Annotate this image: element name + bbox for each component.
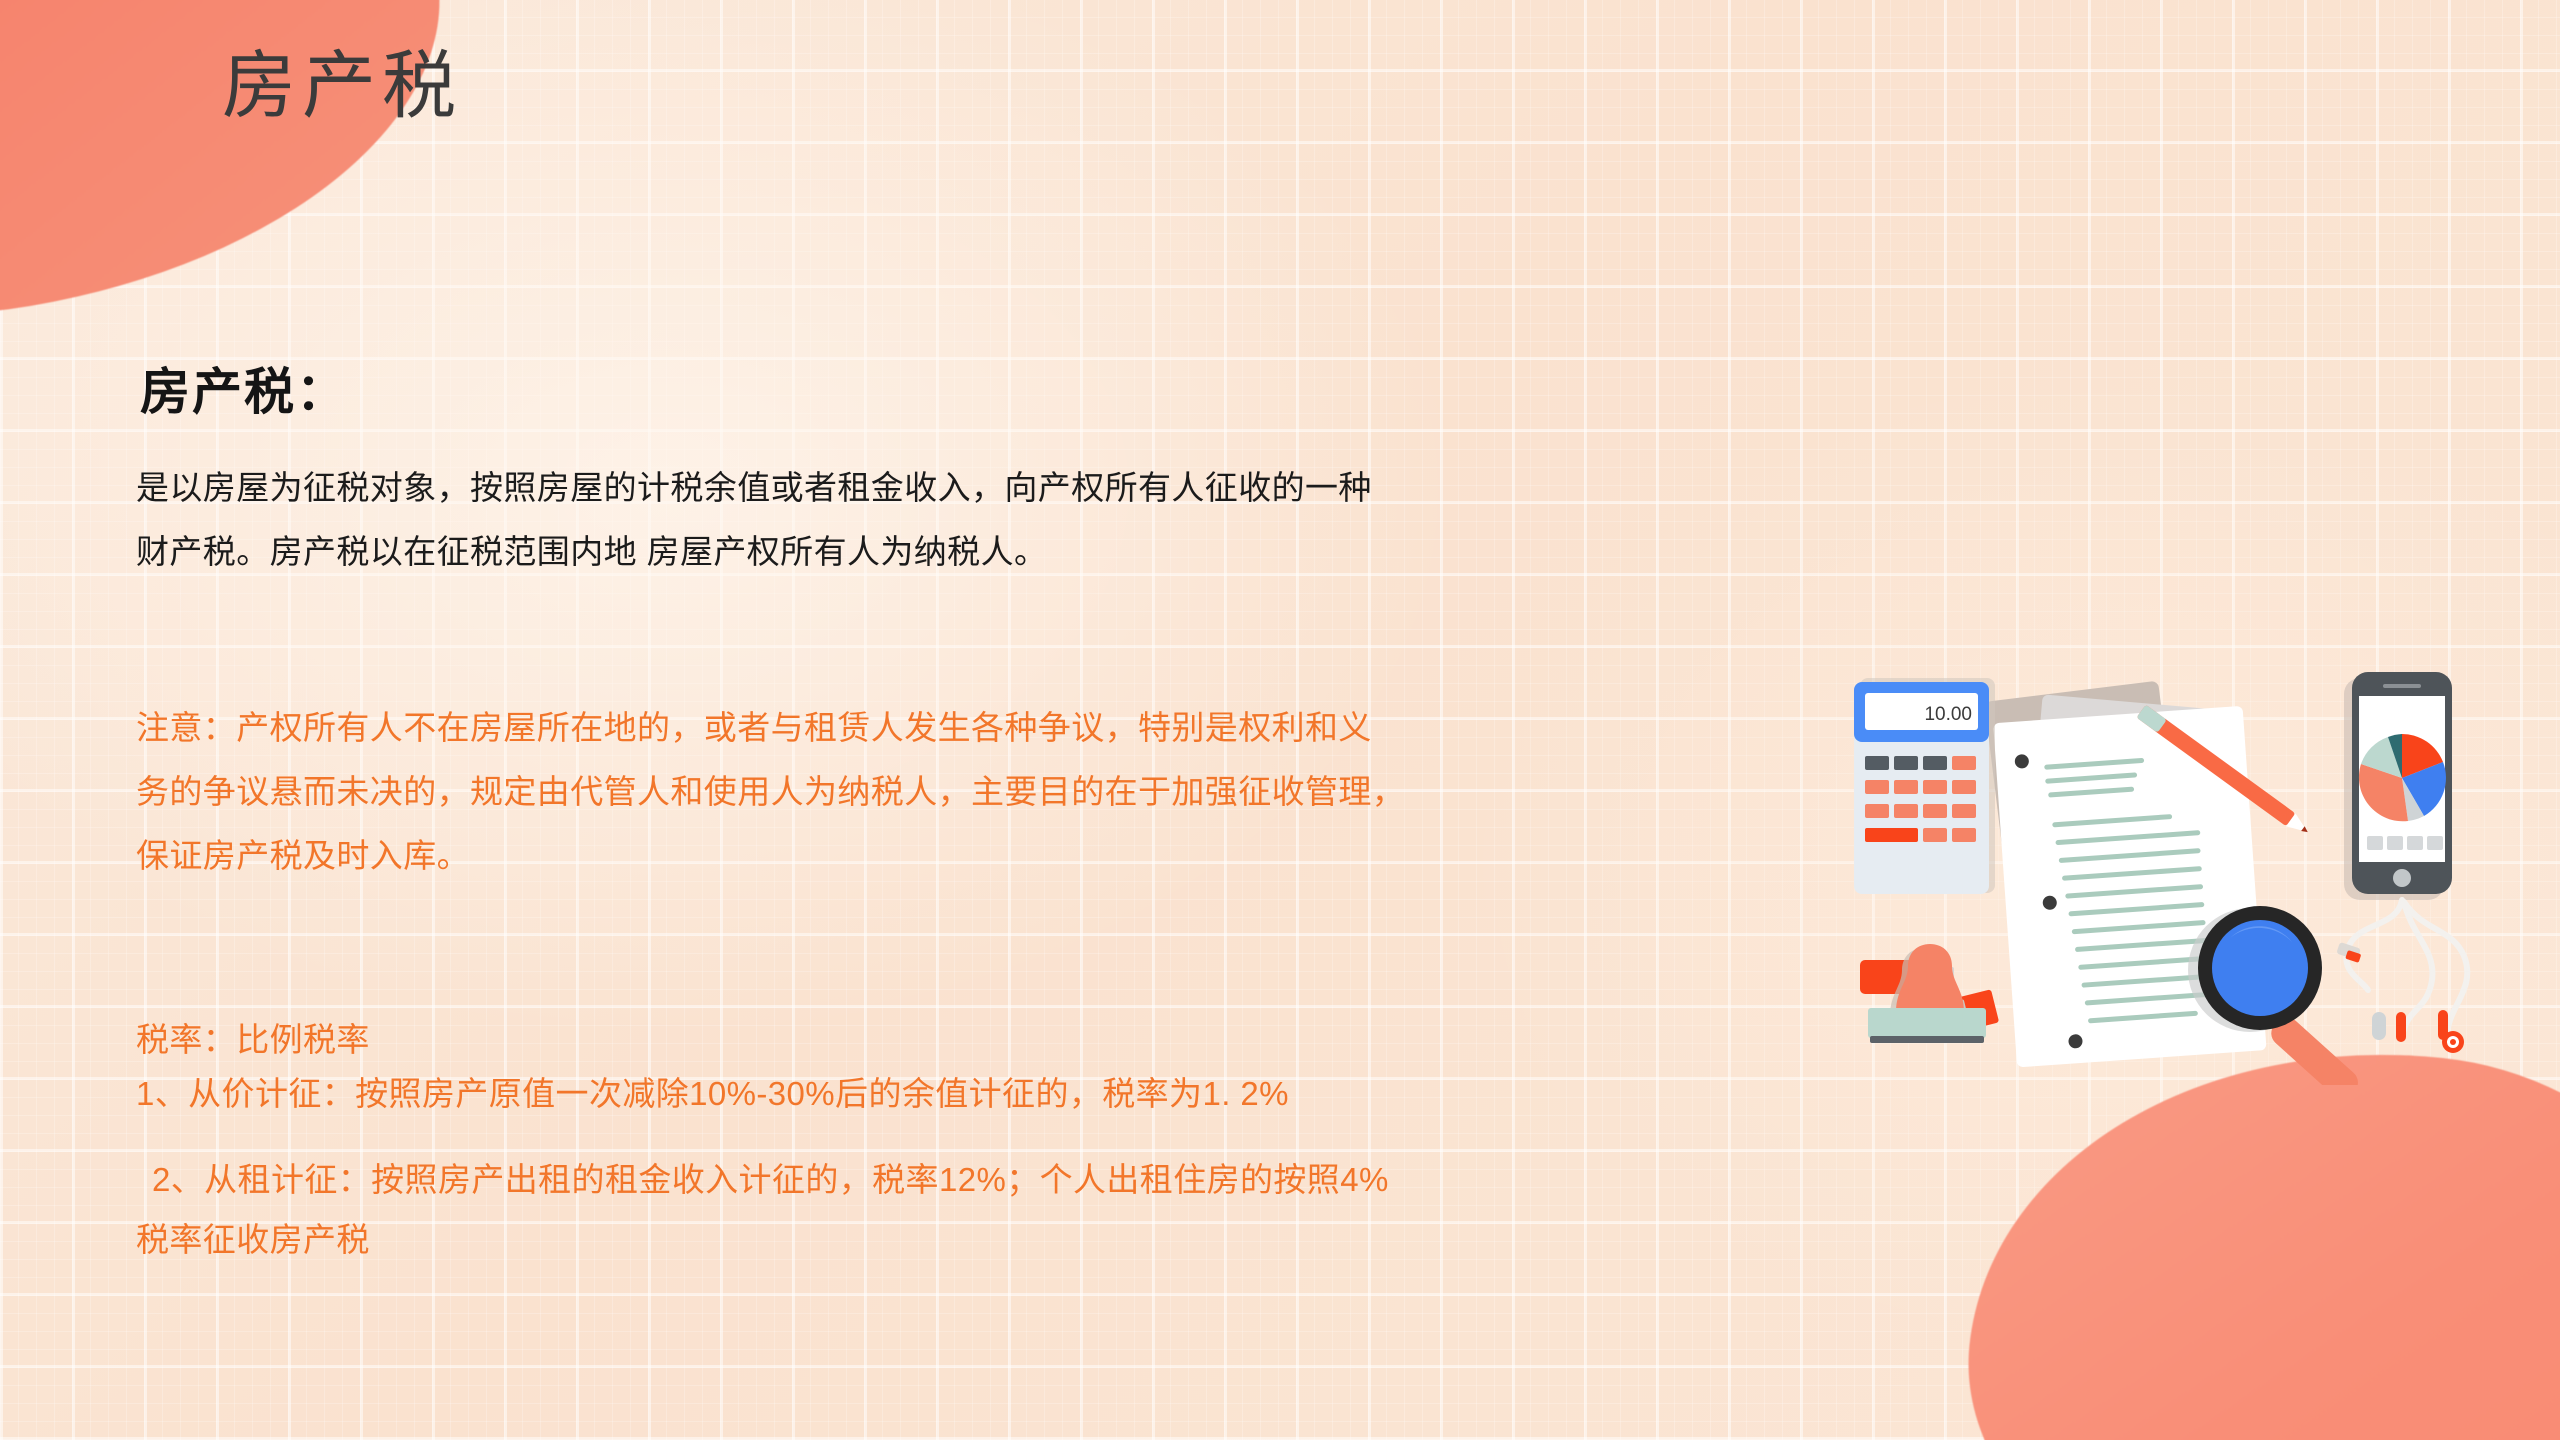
rate-item-1: 1、从价计征：按照房产原值一次减除10%-30%后的余值计征的，税率为1. 2% <box>136 1062 1736 1126</box>
earphones <box>2346 900 2467 1030</box>
rate-item-2: 2、从租计征：按照房产出租的租金收入计征的，税率12%；个人出租住房的按照4% <box>136 1148 1736 1212</box>
rate-item-1-text: 1、从价计征：按照房产原值一次减除10%-30%后的余值计征的，税率为1. 2% <box>136 1062 1736 1126</box>
magnifying-glass <box>2188 906 2363 1085</box>
calculator: 10.00 <box>1854 678 1995 894</box>
tax-desk-flatlay-illustration: 10.00 <box>1852 660 2502 1085</box>
stamp-base <box>1868 1008 1986 1038</box>
definition-line-2: 财产税。房产税以在征税范围内地 房屋产权所有人为纳税人。 <box>136 520 1736 584</box>
page-title: 房产税 <box>222 26 462 133</box>
stamp-handle <box>1896 944 1964 1012</box>
magnifier-lens <box>2212 920 2308 1016</box>
note-paragraph: 注意：产权所有人不在房屋所在地的，或者与租赁人发生各种争议，特别是权利和义 务的… <box>136 696 1736 888</box>
calculator-display-value: 10.00 <box>1924 704 1972 725</box>
note-line-2: 务的争议悬而未决的，规定由代管人和使用人为纳税人，主要目的在于加强征收管理， <box>136 760 1736 824</box>
note-line-1: 注意：产权所有人不在房屋所在地的，或者与租赁人发生各种争议，特别是权利和义 <box>136 696 1736 760</box>
rate-item-3-text: 税率征收房产税 <box>136 1208 1736 1272</box>
definition-line-1: 是以房屋为征税对象，按照房屋的计税余值或者租金收入，向产权所有人征收的一种 <box>136 456 1736 520</box>
note-line-3: 保证房产税及时入库。 <box>136 824 1736 888</box>
slide-root: 房产税 房产税： 是以房屋为征税对象，按照房屋的计税余值或者租金收入，向产权所有… <box>0 0 2560 1440</box>
rate-item-3: 税率征收房产税 <box>136 1208 1736 1272</box>
earphone-buds <box>2336 942 2464 1053</box>
rate-item-2-text: 2、从租计征：按照房产出租的租金收入计征的，税率12%；个人出租住房的按照4% <box>136 1148 1736 1212</box>
phone-home-button <box>2393 869 2411 887</box>
definition-paragraph: 是以房屋为征税对象，按照房屋的计税余值或者租金收入，向产权所有人征收的一种 财产… <box>136 456 1736 584</box>
phone-pie-chart <box>2359 734 2446 821</box>
section-heading: 房产税： <box>140 352 348 424</box>
phone-speaker <box>2383 684 2421 688</box>
smartphone <box>2344 672 2452 900</box>
